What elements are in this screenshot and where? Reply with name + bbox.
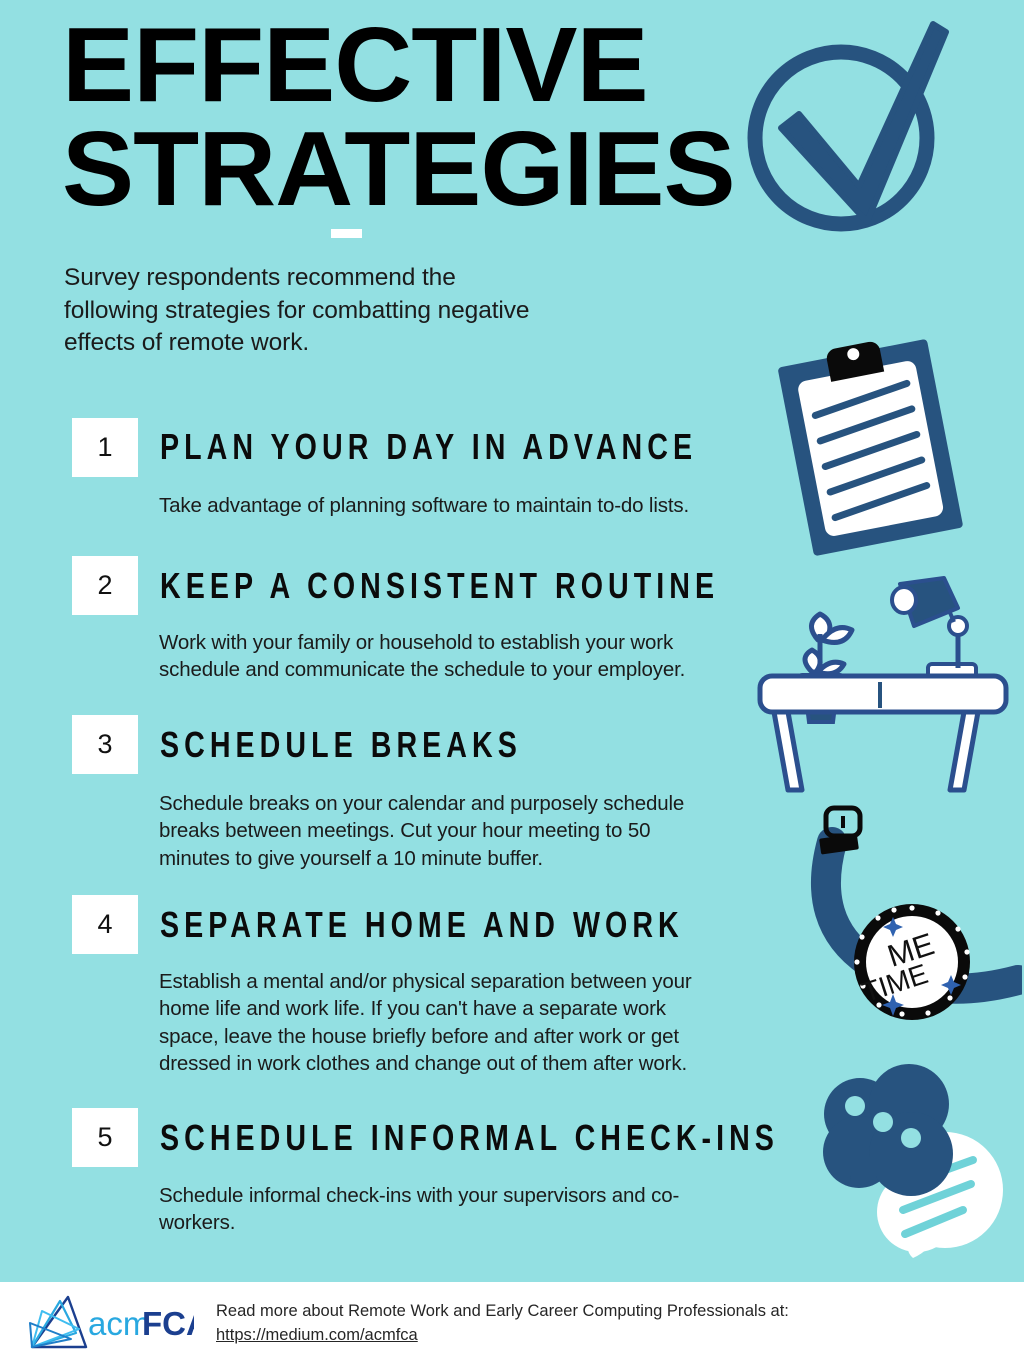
title-line-1: EFFECTIVE: [62, 14, 756, 118]
item-body: Establish a mental and/or physical separ…: [159, 968, 729, 1077]
check-circle-icon: [741, 10, 951, 235]
item-heading: KEEP A CONSISTENT ROUTINE: [160, 566, 719, 607]
footer-credit-line: Read more about Remote Work and Early Ca…: [216, 1302, 789, 1320]
item-heading: SEPARATE HOME AND WORK: [160, 905, 684, 946]
item-body: Schedule informal check-ins with your su…: [159, 1182, 719, 1237]
footer-url-link[interactable]: https://medium.com/acmfca: [216, 1324, 789, 1348]
speech-bubbles-icon: [805, 1062, 1020, 1277]
item-heading: SCHEDULE BREAKS: [160, 725, 522, 766]
item-body: Work with your family or household to es…: [159, 629, 729, 684]
item-number-badge: 1: [72, 418, 138, 477]
logo-fca-text: FCA: [142, 1305, 194, 1342]
desk-with-lamp-and-plant-icon: [752, 572, 1014, 794]
infographic-poster: EFFECTIVE STRATEGIES Survey respondents …: [0, 0, 1024, 1282]
footer-credit: Read more about Remote Work and Early Ca…: [216, 1300, 789, 1348]
item-number-badge: 4: [72, 895, 138, 954]
item-number-badge: 5: [72, 1108, 138, 1167]
page-title: EFFECTIVE STRATEGIES: [62, 14, 756, 222]
item-number-badge: 2: [72, 556, 138, 615]
wristwatch-icon: ME TIME: [802, 802, 1022, 1040]
title-line-2: STRATEGIES: [62, 118, 756, 222]
logo-acm-text: acm: [88, 1305, 150, 1342]
title-divider-dash: [331, 229, 362, 238]
acmfca-logo: acm FCA: [24, 1291, 194, 1353]
item-number-badge: 3: [72, 715, 138, 774]
item-body: Schedule breaks on your calendar and pur…: [159, 790, 724, 872]
clipboard-icon: [758, 333, 988, 558]
intro-paragraph: Survey respondents recommend the followi…: [64, 262, 544, 360]
footer-bar: acm FCA Read more about Remote Work and …: [0, 1282, 1024, 1360]
item-heading: SCHEDULE INFORMAL CHECK-INS: [160, 1118, 779, 1159]
item-heading: PLAN YOUR DAY IN ADVANCE: [160, 427, 697, 468]
item-body: Take advantage of planning software to m…: [159, 492, 749, 519]
